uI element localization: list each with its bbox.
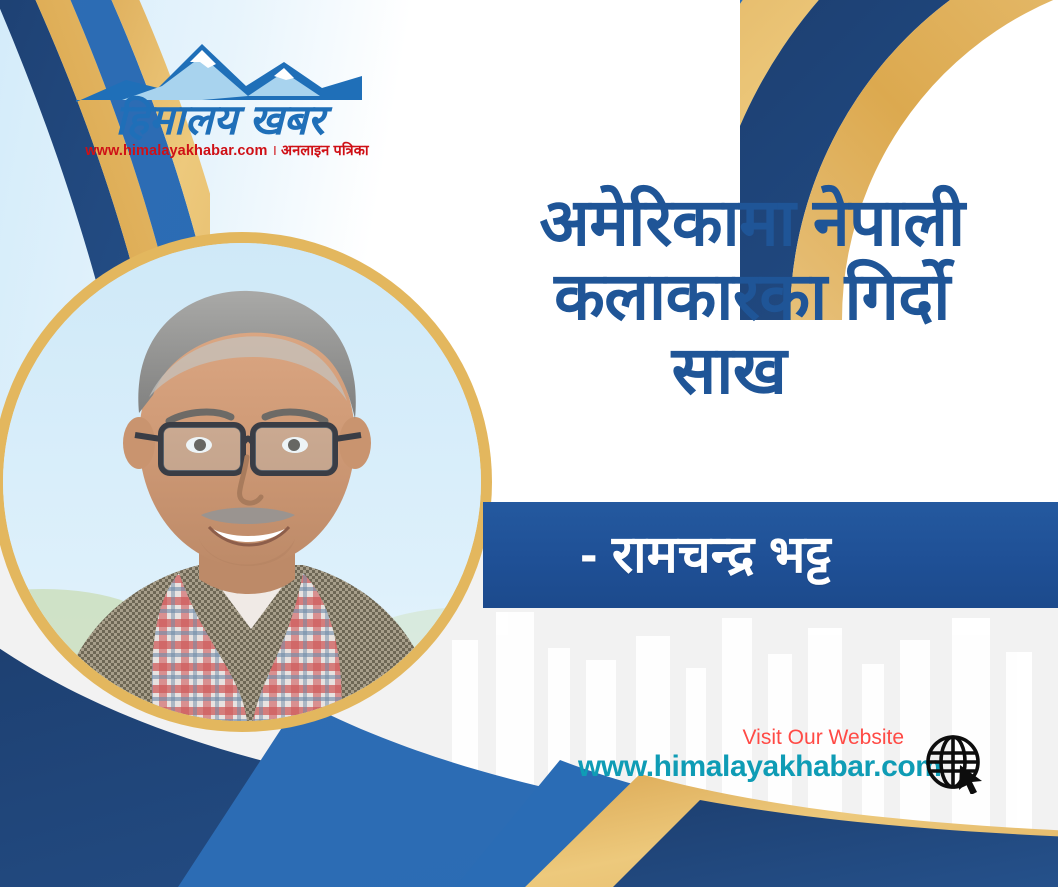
page-title: अमेरिकामा नेपाली कलाकारका गिर्दो साख bbox=[452, 186, 1052, 408]
brand-logo[interactable]: हिमालय खबर www.himalayakhabar.com।अनलाइन… bbox=[70, 36, 370, 164]
logo-wordmark: हिमालय खबर bbox=[115, 95, 333, 140]
headline-line-1: अमेरिकामा नेपाली bbox=[452, 186, 1052, 260]
byline-author: - रामचन्द्र भट्ट bbox=[580, 529, 961, 581]
portrait-frame bbox=[0, 232, 492, 732]
logo-subtitle-url: www.himalayakhabar.com bbox=[85, 143, 267, 159]
news-poster-card: हिमालय खबर www.himalayakhabar.com।अनलाइन… bbox=[0, 0, 1058, 887]
byline-bar: - रामचन्द्र भट्ट bbox=[483, 502, 1058, 608]
website-callout[interactable]: Visit Our Website www.himalayakhabar.com bbox=[578, 726, 988, 798]
portrait-photo bbox=[3, 243, 481, 721]
headline-line-3: साख bbox=[406, 334, 1052, 408]
logo-subtitle: www.himalayakhabar.com।अनलाइन पत्रिका bbox=[82, 140, 372, 160]
headline-line-2: कलाकारका गिर्दो bbox=[452, 260, 1052, 334]
mountain-range-icon: हिमालय खबर bbox=[70, 36, 370, 140]
portrait-photo-clip bbox=[3, 243, 481, 721]
logo-subtitle-tagline: अनलाइन पत्रिका bbox=[281, 143, 369, 159]
visit-our-website-label: Visit Our Website bbox=[743, 726, 904, 750]
website-url[interactable]: www.himalayakhabar.com bbox=[578, 750, 942, 784]
logo-subtitle-separator: । bbox=[267, 143, 281, 159]
globe-cursor-icon bbox=[922, 732, 988, 794]
